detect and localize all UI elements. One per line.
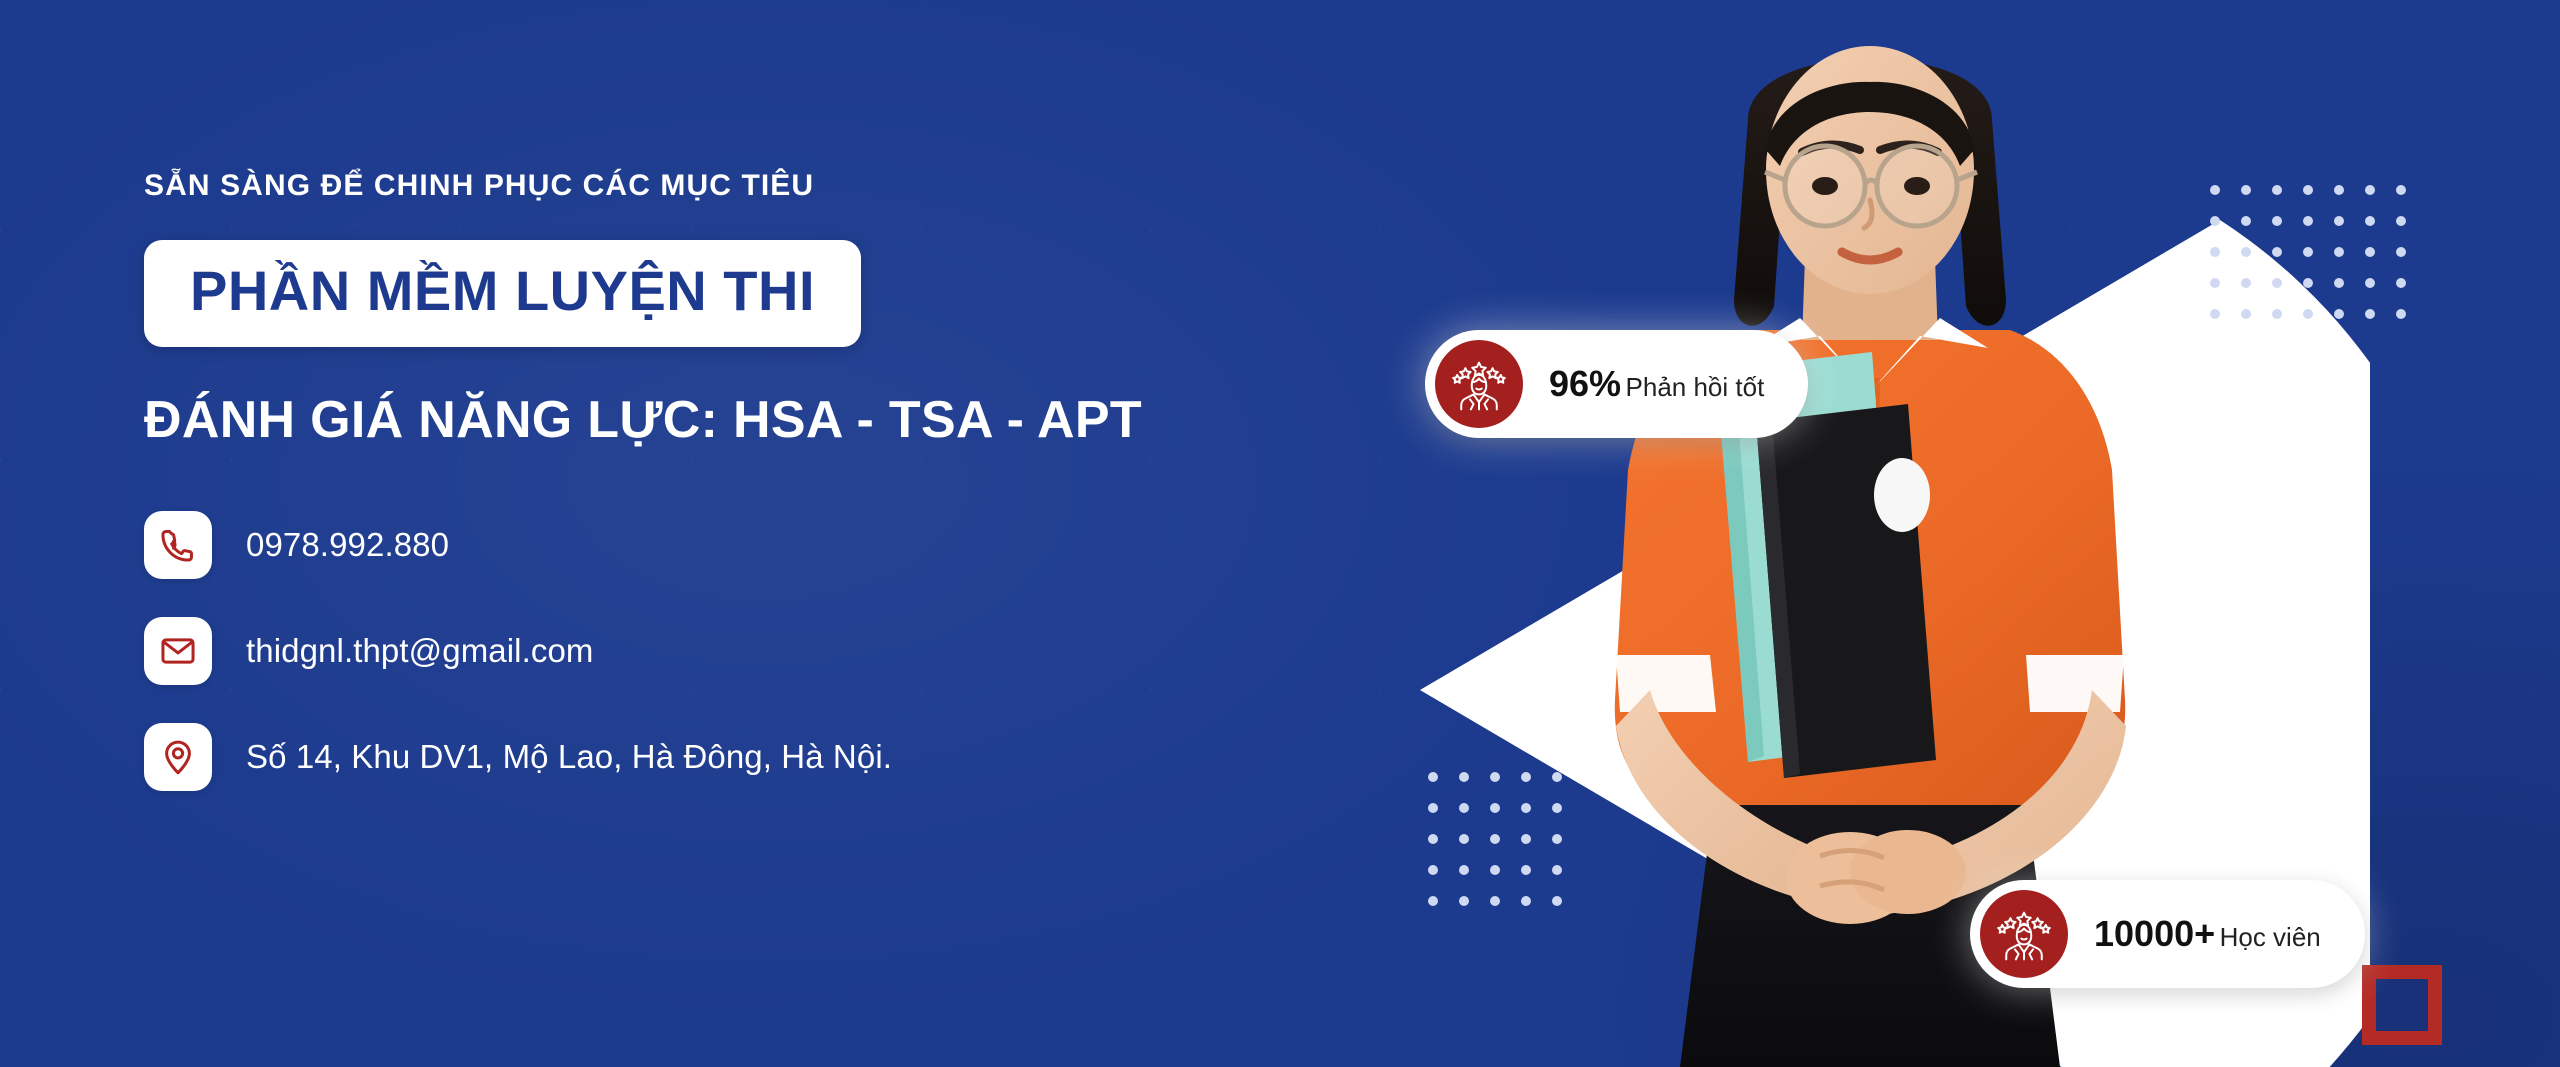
badge-feedback-value: 96%	[1549, 363, 1621, 404]
decorative-dot	[2303, 185, 2313, 195]
decorative-dot	[2241, 278, 2251, 288]
decorative-dot	[2272, 185, 2282, 195]
decorative-dot	[2272, 216, 2282, 226]
badge-feedback-body: 96% Phản hồi tốt	[1549, 363, 1764, 405]
decorative-dot	[2272, 309, 2282, 319]
decorative-dot	[2396, 309, 2406, 319]
hero-eyebrow: SẴN SÀNG ĐỂ CHINH PHỤC CÁC MỤC TIÊU	[144, 168, 1324, 204]
hero-text-column: SẴN SÀNG ĐỂ CHINH PHỤC CÁC MỤC TIÊU PHẦN…	[144, 168, 1324, 791]
decorative-dot	[2396, 278, 2406, 288]
contact-phone-text: 0978.992.880	[246, 526, 449, 564]
decorative-dot	[1490, 834, 1500, 844]
red-square-decoration	[2362, 965, 2442, 1045]
contact-address-text: Số 14, Khu DV1, Mộ Lao, Hà Đông, Hà Nội.	[246, 738, 892, 776]
decorative-dot	[2272, 278, 2282, 288]
decorative-dot	[1428, 803, 1438, 813]
decorative-dot	[1459, 803, 1469, 813]
decorative-dot	[2365, 247, 2375, 257]
hero-title: PHẦN MỀM LUYỆN THI	[190, 262, 815, 321]
decorative-dot	[2303, 216, 2313, 226]
decorative-dot	[1459, 896, 1469, 906]
badge-feedback[interactable]: 96% Phản hồi tốt	[1425, 330, 1808, 438]
contact-list: 0978.992.880 thidgnl.thpt@gmail.com	[144, 511, 1324, 791]
decorative-dot	[1490, 865, 1500, 875]
decorative-dot	[2396, 216, 2406, 226]
envelope-icon	[144, 617, 212, 685]
decorative-dot	[1459, 772, 1469, 782]
decorative-dot	[2241, 309, 2251, 319]
decorative-dot	[2272, 247, 2282, 257]
decorative-dot	[2365, 185, 2375, 195]
contact-row-email[interactable]: thidgnl.thpt@gmail.com	[144, 617, 1324, 685]
badge-feedback-label: Phản hồi tốt	[1626, 372, 1765, 402]
contact-row-phone[interactable]: 0978.992.880	[144, 511, 1324, 579]
decorative-dot	[2303, 247, 2313, 257]
decorative-dot	[1459, 865, 1469, 875]
decorative-dot	[1428, 865, 1438, 875]
contact-email-text: thidgnl.thpt@gmail.com	[246, 632, 594, 670]
rating-person-icon	[1980, 890, 2068, 978]
badge-students[interactable]: 10000+ Học viên	[1970, 880, 2365, 988]
hero-visual-stage: 96% Phản hồi tốt	[1340, 0, 2560, 1067]
decorative-dot	[1490, 772, 1500, 782]
decorative-dot	[2334, 247, 2344, 257]
decorative-dot	[2303, 278, 2313, 288]
decorative-dot	[2334, 185, 2344, 195]
decorative-dot	[2396, 247, 2406, 257]
decorative-dot	[2365, 309, 2375, 319]
decorative-dot	[1428, 834, 1438, 844]
decorative-dot	[2334, 278, 2344, 288]
phone-icon	[144, 511, 212, 579]
location-pin-icon	[144, 723, 212, 791]
contact-row-address[interactable]: Số 14, Khu DV1, Mộ Lao, Hà Đông, Hà Nội.	[144, 723, 1324, 791]
badge-students-value: 10000+	[2094, 913, 2215, 954]
hero-banner: SẴN SÀNG ĐỂ CHINH PHỤC CÁC MỤC TIÊU PHẦN…	[0, 0, 2560, 1067]
decorative-dot	[1428, 772, 1438, 782]
badge-students-body: 10000+ Học viên	[2094, 913, 2321, 955]
dot-grid-right	[2210, 185, 2427, 340]
badge-students-label: Học viên	[2220, 922, 2321, 952]
decorative-dot	[2241, 247, 2251, 257]
decorative-dot	[1428, 896, 1438, 906]
rating-person-icon	[1435, 340, 1523, 428]
decorative-dot	[2303, 309, 2313, 319]
decorative-dot	[2241, 185, 2251, 195]
decorative-dot	[2365, 278, 2375, 288]
decorative-dot	[1490, 896, 1500, 906]
decorative-dot	[1490, 803, 1500, 813]
hero-title-pill: PHẦN MỀM LUYỆN THI	[144, 240, 861, 347]
hero-subtitle: ĐÁNH GIÁ NĂNG LỰC: HSA - TSA - APT	[144, 391, 1324, 449]
decorative-dot	[2334, 216, 2344, 226]
decorative-dot	[2365, 216, 2375, 226]
decorative-dot	[2396, 185, 2406, 195]
decorative-dot	[1459, 834, 1469, 844]
decorative-dot	[2241, 216, 2251, 226]
decorative-dot	[2334, 309, 2344, 319]
